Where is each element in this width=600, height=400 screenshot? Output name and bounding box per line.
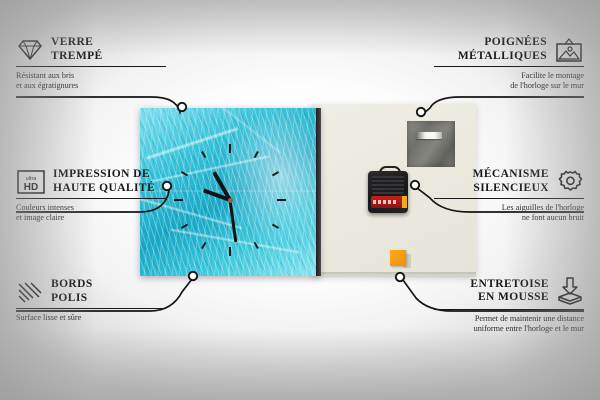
callout-bords-polis: BORDS POLIS Surface lisse et sûre [16,278,166,323]
glass-edge [316,108,321,276]
divider [16,66,166,67]
mechanism-grill [372,176,404,194]
infographic-canvas: VERRE TREMPÉ Résistant aux bris et aux é… [0,0,600,400]
callout-title: VERRE TREMPÉ [51,36,103,63]
callout-entretoise-en-mousse: ENTRETOISE EN MOUSSE Permet de maintenir… [434,276,584,334]
divider [434,309,584,310]
battery-plus-terminal [402,196,407,208]
divider [16,308,166,309]
callout-poignees-metalliques: POIGNÉES MÉTALLIQUES Facilite le montage… [434,36,584,91]
svg-text:HD: HD [24,182,38,193]
callout-title: MÉCANISME SILENCIEUX [473,168,549,195]
callout-title: ENTRETOISE EN MOUSSE [470,278,549,305]
clock-center-pin [228,198,233,203]
metal-hanger-plate [407,121,455,167]
callout-mecanisme-silencieux: MÉCANISME SILENCIEUX Les aiguilles de l'… [434,168,584,223]
glass-clock-face [140,108,320,276]
divider [16,198,166,199]
polished-edges-icon [16,280,44,304]
product-image [140,104,476,280]
divider [434,198,584,199]
callout-title: POIGNÉES MÉTALLIQUES [458,36,547,63]
foam-spacer-icon [556,276,584,306]
callout-title: BORDS POLIS [51,278,93,305]
ultra-hd-icon: ultra HD [16,169,46,195]
hanger-slot [416,132,442,139]
callout-title: IMPRESSION DE HAUTE QUALITÉ [53,168,155,195]
callout-verre-trempe: VERRE TREMPÉ Résistant aux bris et aux é… [16,36,166,91]
gear-icon [556,169,584,195]
divider [434,66,584,67]
clock-dial [174,144,286,256]
foam-spacer [390,250,406,266]
diamond-icon [16,38,44,62]
picture-frame-icon [554,37,584,63]
battery-label [373,200,397,204]
callout-impression-haute-qualite: ultra HD IMPRESSION DE HAUTE QUALITÉ Cou… [16,168,166,223]
